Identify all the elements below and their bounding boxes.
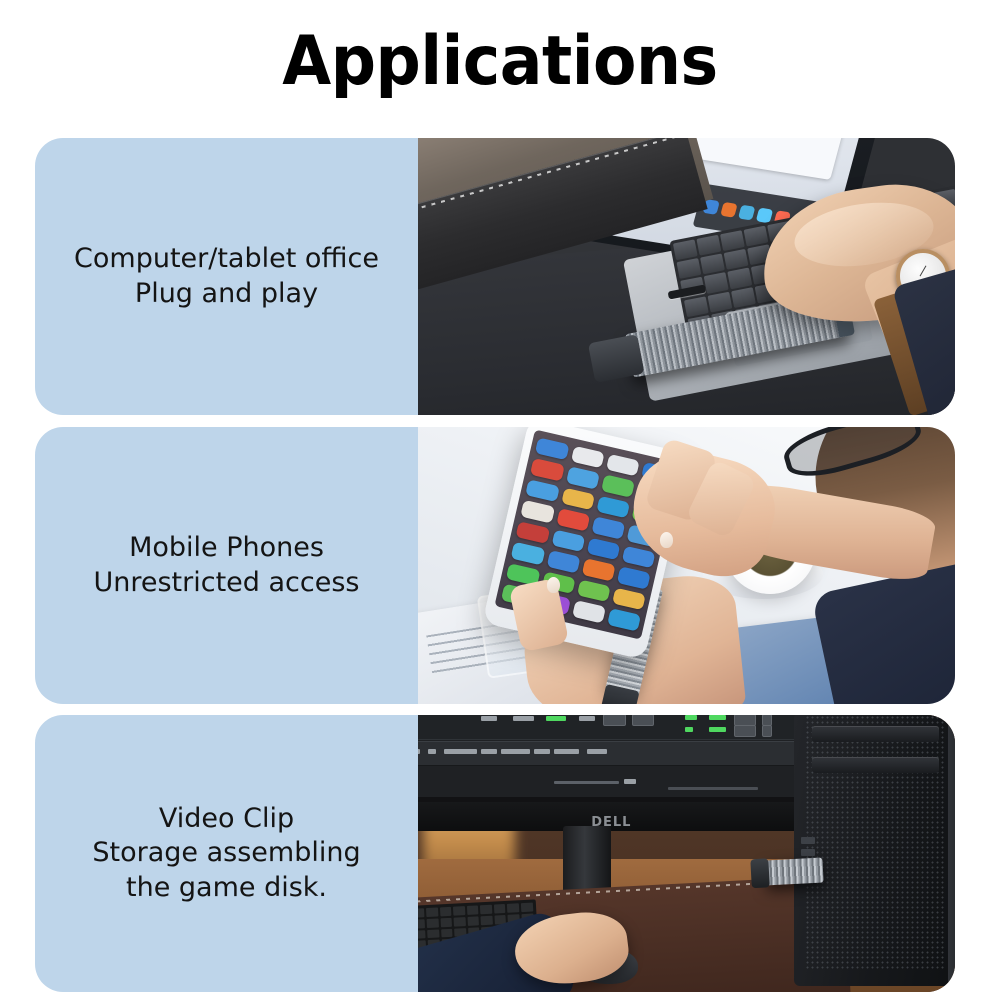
usb-port	[801, 849, 815, 856]
tower-drive-slot	[812, 757, 940, 773]
ui-value-green	[709, 727, 725, 732]
ui-button	[632, 715, 654, 726]
key	[467, 916, 479, 925]
dock-icon-3	[738, 205, 755, 221]
key	[724, 249, 749, 270]
application-panel-video: Video Clip Storage assembling the game d…	[35, 715, 955, 992]
key	[426, 908, 438, 917]
ui-value-green	[685, 727, 693, 732]
key	[439, 907, 451, 916]
ui-text	[554, 749, 578, 754]
app-icon	[572, 600, 606, 623]
key	[466, 906, 478, 915]
key	[731, 287, 756, 308]
monitor-screen-ui	[418, 715, 815, 797]
ui-text	[534, 749, 550, 754]
caption-text-computer: Computer/tablet office Plug and play	[74, 242, 379, 310]
usb-port	[801, 837, 815, 844]
application-panel-mobile: Mobile Phones Unrestricted access	[35, 427, 955, 704]
app-icon	[596, 495, 630, 518]
app-icon	[525, 478, 559, 501]
caption-box-mobile: Mobile Phones Unrestricted access	[35, 427, 418, 704]
key	[427, 929, 439, 938]
ui-text	[501, 749, 530, 754]
ssd-end-cap	[750, 858, 770, 888]
key	[440, 918, 452, 927]
app-icon	[521, 499, 555, 522]
key	[426, 919, 438, 928]
ui-slider-value	[624, 779, 636, 784]
ui-text	[444, 749, 477, 754]
ui-text	[418, 749, 420, 754]
caption-text-video: Video Clip Storage assembling the game d…	[92, 802, 360, 904]
software-top-row	[418, 715, 815, 740]
app-icon	[511, 541, 545, 564]
ui-text	[428, 749, 436, 754]
key	[418, 930, 425, 939]
app-icon	[606, 453, 640, 476]
key	[700, 254, 725, 275]
key	[720, 230, 745, 251]
ui-value-green	[546, 716, 566, 721]
app-icon	[530, 458, 564, 481]
key	[673, 239, 698, 260]
app-icon	[612, 587, 646, 610]
ui-button	[762, 725, 772, 737]
app-icon	[556, 508, 590, 531]
ui-text	[587, 749, 607, 754]
key	[418, 909, 424, 918]
key	[520, 903, 532, 912]
app-icon	[570, 445, 604, 468]
tower-drive-slot	[812, 726, 940, 742]
ui-slider-track	[554, 781, 619, 784]
pc-tower	[794, 715, 955, 986]
fingernail	[660, 532, 673, 548]
key	[453, 917, 465, 926]
key	[507, 904, 519, 913]
app-icon	[565, 466, 599, 489]
laptop-office-photo	[418, 138, 955, 415]
ui-button	[603, 715, 625, 726]
key	[480, 905, 492, 914]
tower-side-panel	[948, 715, 955, 986]
fingernail	[547, 577, 560, 593]
application-panel-computer: Computer/tablet office Plug and play	[35, 138, 955, 415]
app-icon	[586, 537, 620, 560]
key	[707, 291, 732, 312]
ssd-ribbed-body	[765, 858, 823, 886]
app-icon	[581, 558, 615, 581]
software-toolbar	[418, 741, 815, 766]
ui-text	[579, 716, 595, 721]
ui-value-green	[685, 715, 697, 720]
caption-box-video: Video Clip Storage assembling the game d…	[35, 715, 418, 992]
monitor-bezel: DELL	[418, 802, 815, 831]
key	[744, 226, 769, 247]
key	[684, 296, 709, 317]
key	[440, 929, 452, 938]
key	[480, 916, 492, 925]
app-icon	[551, 529, 585, 552]
key	[453, 906, 465, 915]
key	[676, 258, 701, 279]
desktop-pc-photo: DELL	[418, 715, 955, 992]
dock-icon-2	[720, 202, 737, 218]
app-icon	[516, 520, 550, 543]
ui-text	[481, 749, 497, 754]
app-icon	[591, 516, 625, 539]
mobile-phone-photo	[418, 427, 955, 704]
key	[418, 919, 425, 928]
app-icon	[546, 549, 580, 572]
app-icon	[561, 487, 595, 510]
app-icon	[577, 579, 611, 602]
app-icon	[535, 437, 569, 460]
key	[696, 235, 721, 256]
ui-text	[481, 716, 497, 721]
caption-box-computer: Computer/tablet office Plug and play	[35, 138, 418, 415]
ui-status-text	[668, 787, 758, 790]
ui-value-green	[709, 715, 725, 720]
app-icon	[617, 566, 651, 589]
dell-monitor: DELL	[418, 715, 815, 831]
ui-text	[513, 716, 533, 721]
app-icon	[601, 474, 635, 497]
key	[704, 273, 729, 294]
caption-text-mobile: Mobile Phones Unrestricted access	[94, 531, 360, 599]
portable-ssd-device	[765, 858, 823, 886]
app-icon	[607, 608, 641, 631]
ui-button	[734, 725, 756, 737]
key	[727, 268, 752, 289]
key	[493, 904, 505, 913]
page-title: Applications	[35, 28, 965, 96]
tower-mesh-panel	[805, 715, 947, 970]
